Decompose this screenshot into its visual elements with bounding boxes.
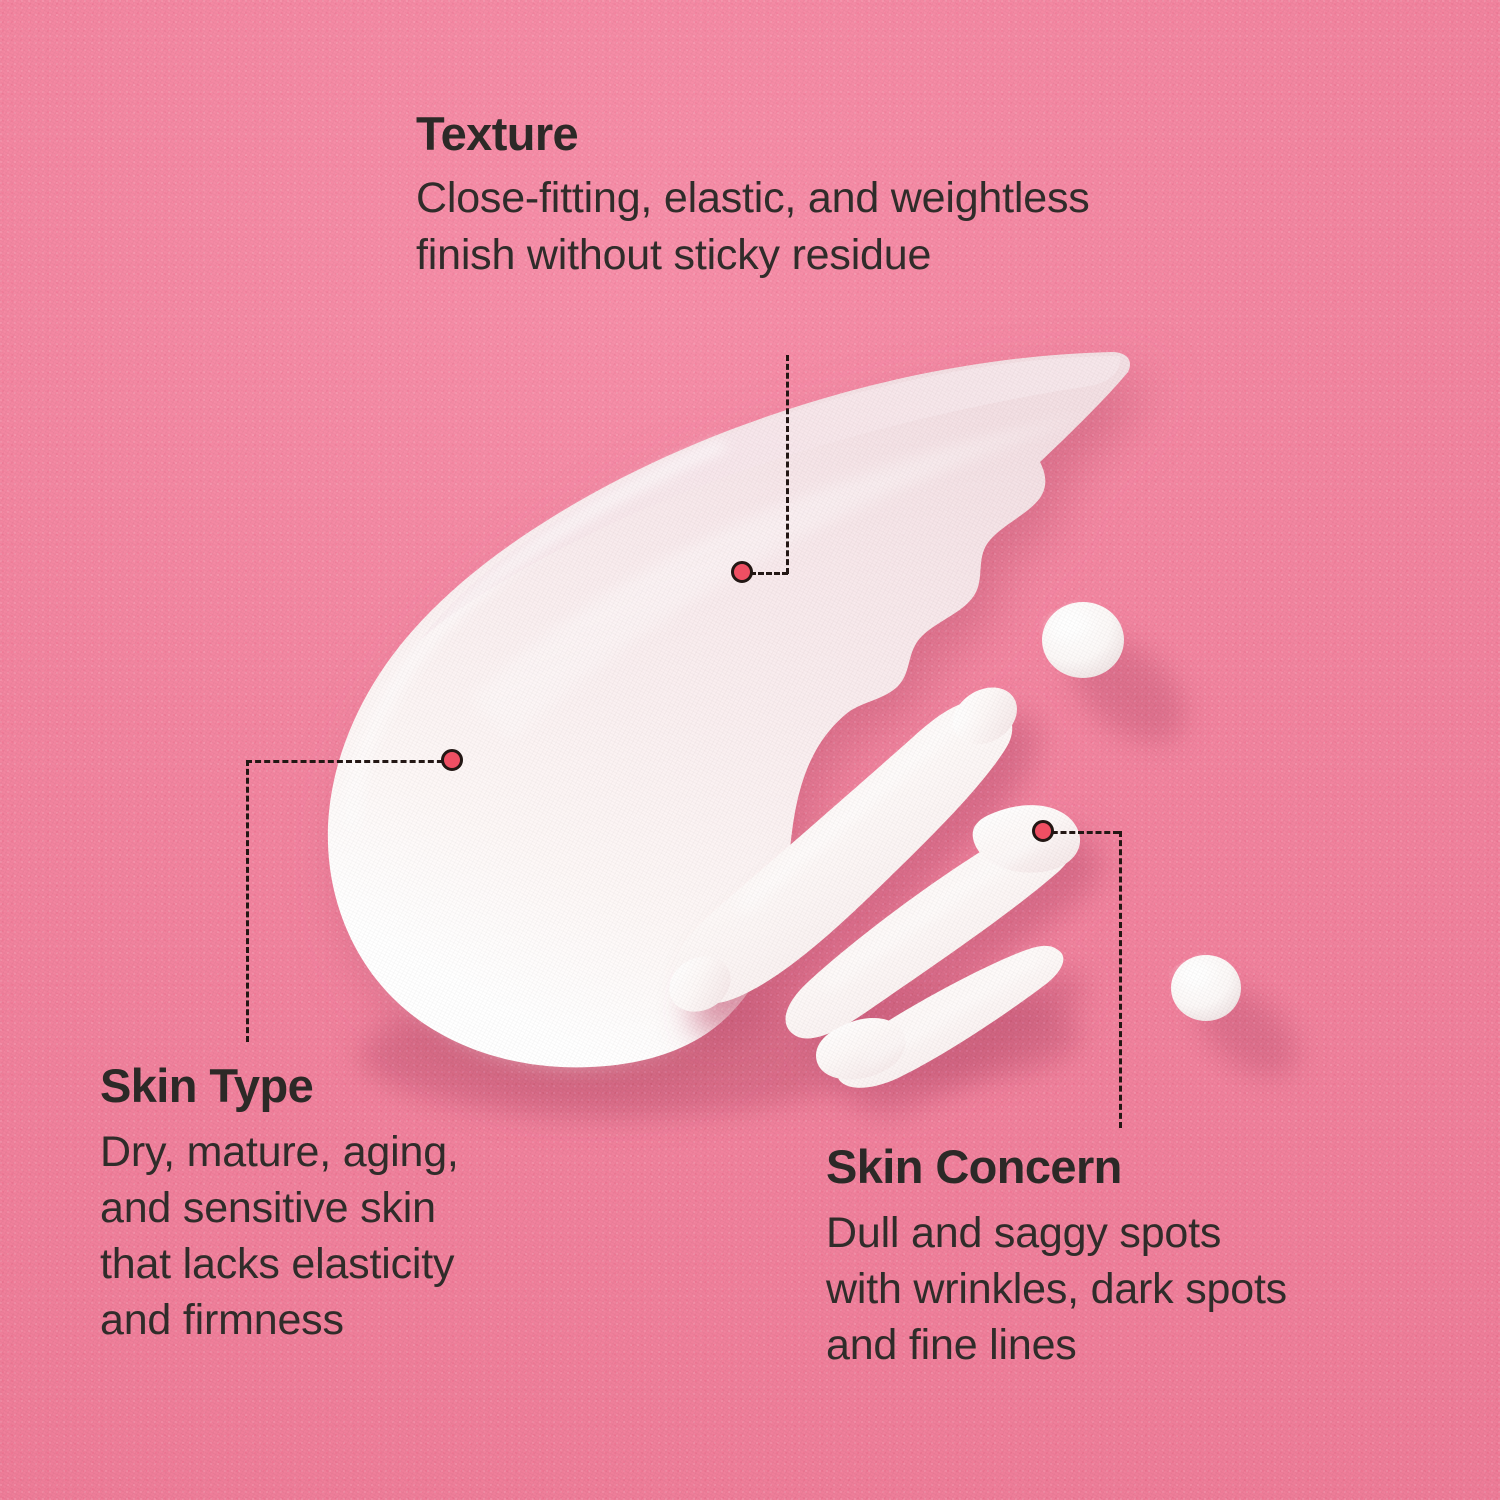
callout-skin-concern: Skin Concern Dull and saggy spots with w… — [826, 1143, 1466, 1374]
callout-texture-heading: Texture — [416, 110, 1336, 159]
callout-texture-body: Close-fitting, elastic, and weightless f… — [416, 170, 1336, 284]
callout-marker-texture[interactable] — [731, 561, 753, 583]
callout-texture: Texture Close-fitting, elastic, and weig… — [416, 110, 1336, 284]
infographic-canvas: Texture Close-fitting, elastic, and weig… — [0, 0, 1500, 1500]
leader-line-skintype-horizontal — [246, 760, 452, 763]
leader-line-skintype-vertical — [246, 760, 249, 1042]
callout-marker-skin-concern[interactable] — [1032, 820, 1054, 842]
leader-line-texture-vertical — [786, 355, 789, 574]
leader-line-skinconcern-horizontal — [1043, 831, 1119, 834]
callout-skin-concern-body: Dull and saggy spots with wrinkles, dark… — [826, 1206, 1466, 1374]
callout-skin-type-body: Dry, mature, aging, and sensitive skin t… — [100, 1125, 660, 1349]
callout-skin-concern-heading: Skin Concern — [826, 1143, 1466, 1192]
leader-line-skinconcern-vertical — [1119, 831, 1122, 1128]
callout-marker-skin-type[interactable] — [441, 749, 463, 771]
callout-skin-type: Skin Type Dry, mature, aging, and sensit… — [100, 1062, 660, 1348]
callout-skin-type-heading: Skin Type — [100, 1062, 660, 1111]
